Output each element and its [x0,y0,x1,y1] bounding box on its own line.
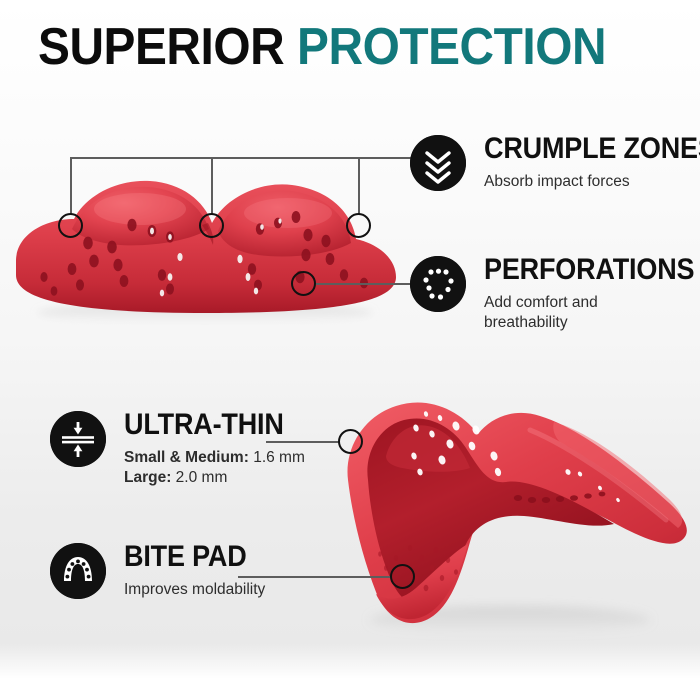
marker-crumple-mid [199,213,224,238]
infographic-page: SUPERIOR PROTECTION [0,0,700,700]
thickness-value-small-medium: 1.6 mm [249,449,305,466]
page-title: SUPERIOR PROTECTION [38,18,606,76]
callout-desc-ultra-thin: Small & Medium: 1.6 mm Large: 2.0 mm [124,448,354,488]
callout-desc-line1: Improves moldability [124,581,265,598]
callout-title-ultra-thin: ULTRA-THIN [124,409,358,441]
callout-desc-perforations: Add comfort and breathability [484,293,684,333]
callout-desc-line2: breathability [484,313,684,333]
callout-desc-line1: Add comfort and [484,294,598,311]
leader-line-crumple-right [358,157,360,215]
callout-desc-crumple-zones: Absorb impact forces [484,172,684,192]
marker-bite-pad [390,564,415,589]
mouthguard-front-view [0,165,410,325]
callout-title-crumple-zones: CRUMPLE ZONES [484,133,700,165]
dots-ring-icon [410,256,466,312]
chevrons-down-icon [410,135,466,191]
callout-title-bite-pad: BITE PAD [124,541,358,573]
leader-line-perforations [316,283,412,285]
leader-line-crumple-horizontal [70,157,412,159]
page-title-part1: SUPERIOR [38,18,284,76]
marker-perforations [291,271,316,296]
thickness-value-large: 2.0 mm [171,469,227,486]
callout-desc-bite-pad: Improves moldability [124,580,344,600]
mouthguard-angled-view [330,382,700,647]
marker-crumple-left [58,213,83,238]
leader-line-crumple-left [70,157,72,215]
callout-title-perforations: PERFORATIONS [484,254,700,286]
dental-arch-icon [50,543,106,599]
marker-crumple-right [346,213,371,238]
leader-line-crumple-mid [211,157,213,215]
thickness-arrows-icon [50,411,106,467]
callout-desc-line1: Absorb impact forces [484,173,630,190]
page-title-part2: PROTECTION [297,18,606,76]
thickness-label-small-medium: Small & Medium: [124,449,249,466]
thickness-label-large: Large: [124,469,171,486]
